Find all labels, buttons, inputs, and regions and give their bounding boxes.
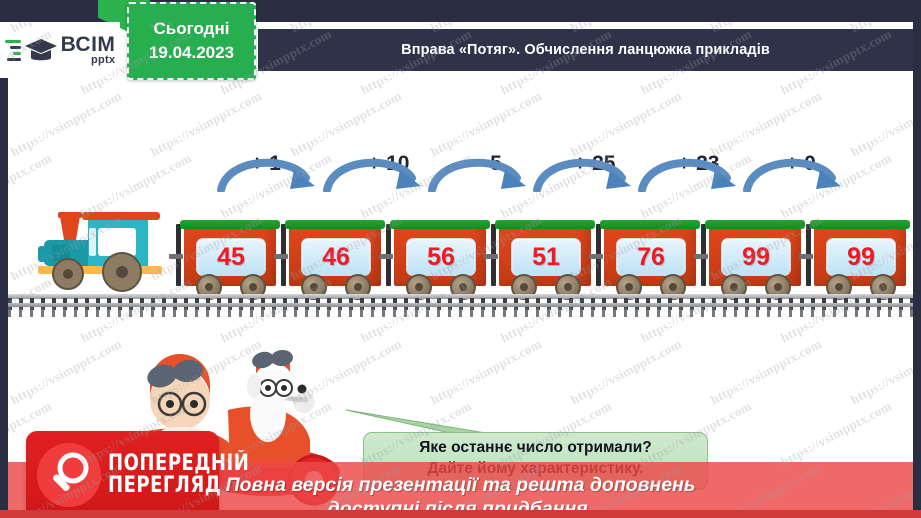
date-badge: Сьогодні 19.04.2023 xyxy=(127,2,256,80)
train-car-2: 46 xyxy=(285,218,385,290)
car-number-panel: 76 xyxy=(616,238,686,276)
train-car-3: 56 xyxy=(390,218,490,290)
slide-canvas: + 1 + 10 − 5 + 25 + 23 + 0 xyxy=(8,22,913,510)
train-car-1: 45 xyxy=(180,218,280,290)
car-number-panel: 99 xyxy=(826,238,896,276)
car-coupler xyxy=(379,254,393,259)
car-coupler xyxy=(274,254,288,259)
train-car-7: 99 xyxy=(810,218,910,290)
chain-arrow-6 xyxy=(742,152,846,192)
train-car-4: 51 xyxy=(495,218,595,290)
date-badge-value: 19.04.2023 xyxy=(149,43,234,63)
chain-arrow-1 xyxy=(216,152,320,192)
banner-line-2: доступні після придбання. xyxy=(328,497,593,510)
rail-bar xyxy=(8,303,913,307)
slide: + 1 + 10 − 5 + 25 + 23 + 0 xyxy=(0,0,921,518)
car-roof xyxy=(705,220,805,229)
bubble-line-1: Яке останнє число отримали? xyxy=(419,439,651,457)
car-roof xyxy=(600,220,700,229)
car-coupler xyxy=(169,254,183,259)
car-number: 45 xyxy=(217,243,245,272)
watermark-text: https://vsimpptx.com xyxy=(778,398,894,470)
car-coupler xyxy=(799,254,813,259)
car-number: 99 xyxy=(742,243,770,272)
preview-line-2: ПЕРЕГЛЯД xyxy=(108,475,249,497)
preview-button[interactable]: ПОПЕРЕДНІЙ ПЕРЕГЛЯД xyxy=(26,431,219,510)
watermark-text: https://vsimpptx.com xyxy=(848,336,913,408)
page-title: Вправа «Потяг». Обчислення ланцюжка прик… xyxy=(401,42,770,58)
watermark-text: https://vsimpptx.com xyxy=(8,336,124,408)
car-number: 56 xyxy=(427,243,455,272)
car-roof xyxy=(390,220,490,229)
car-number-panel: 99 xyxy=(721,238,791,276)
car-roof xyxy=(495,220,595,229)
car-coupler xyxy=(694,254,708,259)
car-number-panel: 56 xyxy=(406,238,476,276)
railway-track xyxy=(8,292,913,316)
car-number: 51 xyxy=(532,243,560,272)
magnifier-icon xyxy=(37,443,101,507)
car-number-panel: 51 xyxy=(511,238,581,276)
speed-lines-icon xyxy=(5,40,21,61)
graduation-cap-icon xyxy=(24,37,58,63)
car-coupler xyxy=(589,254,603,259)
chain-arrow-3 xyxy=(427,152,531,192)
slide-title-bar: Вправа «Потяг». Обчислення ланцюжка прик… xyxy=(258,29,913,71)
car-number-panel: 45 xyxy=(196,238,266,276)
chain-arrow-2 xyxy=(322,152,426,192)
watermark-text: https://vsimpptx.com xyxy=(568,336,684,408)
watermark-text: https://vsimpptx.com xyxy=(708,336,824,408)
logo-name: ВСІМ xyxy=(61,35,116,55)
watermark-text: https://vsimpptx.com xyxy=(428,336,544,408)
logo-sub: pptx xyxy=(61,55,116,65)
car-coupler xyxy=(484,254,498,259)
car-roof xyxy=(285,220,385,229)
car-number: 99 xyxy=(847,243,875,272)
car-number: 76 xyxy=(637,243,665,272)
train-car-5: 76 xyxy=(600,218,700,290)
banner-line-1: Повна версія презентації та решта доповн… xyxy=(226,473,696,497)
car-roof xyxy=(180,220,280,229)
car-roof xyxy=(810,220,910,229)
rail-ties xyxy=(8,308,913,317)
train-car-6: 99 xyxy=(705,218,805,290)
number-chain: + 1 + 10 − 5 + 25 + 23 + 0 xyxy=(8,100,913,315)
chain-arrow-5 xyxy=(637,152,741,192)
date-badge-label: Сьогодні xyxy=(154,19,230,39)
car-number-panel: 46 xyxy=(301,238,371,276)
banner-footer-strip xyxy=(0,510,921,518)
chain-arrow-4 xyxy=(532,152,636,192)
preview-button-label: ПОПЕРЕДНІЙ ПЕРЕГЛЯД xyxy=(108,453,280,497)
locomotive-icon xyxy=(30,200,178,292)
preview-line-1: ПОПЕРЕДНІЙ xyxy=(108,453,249,475)
brand-logo: ВСІМ pptx xyxy=(0,22,120,78)
car-number: 46 xyxy=(322,243,350,272)
